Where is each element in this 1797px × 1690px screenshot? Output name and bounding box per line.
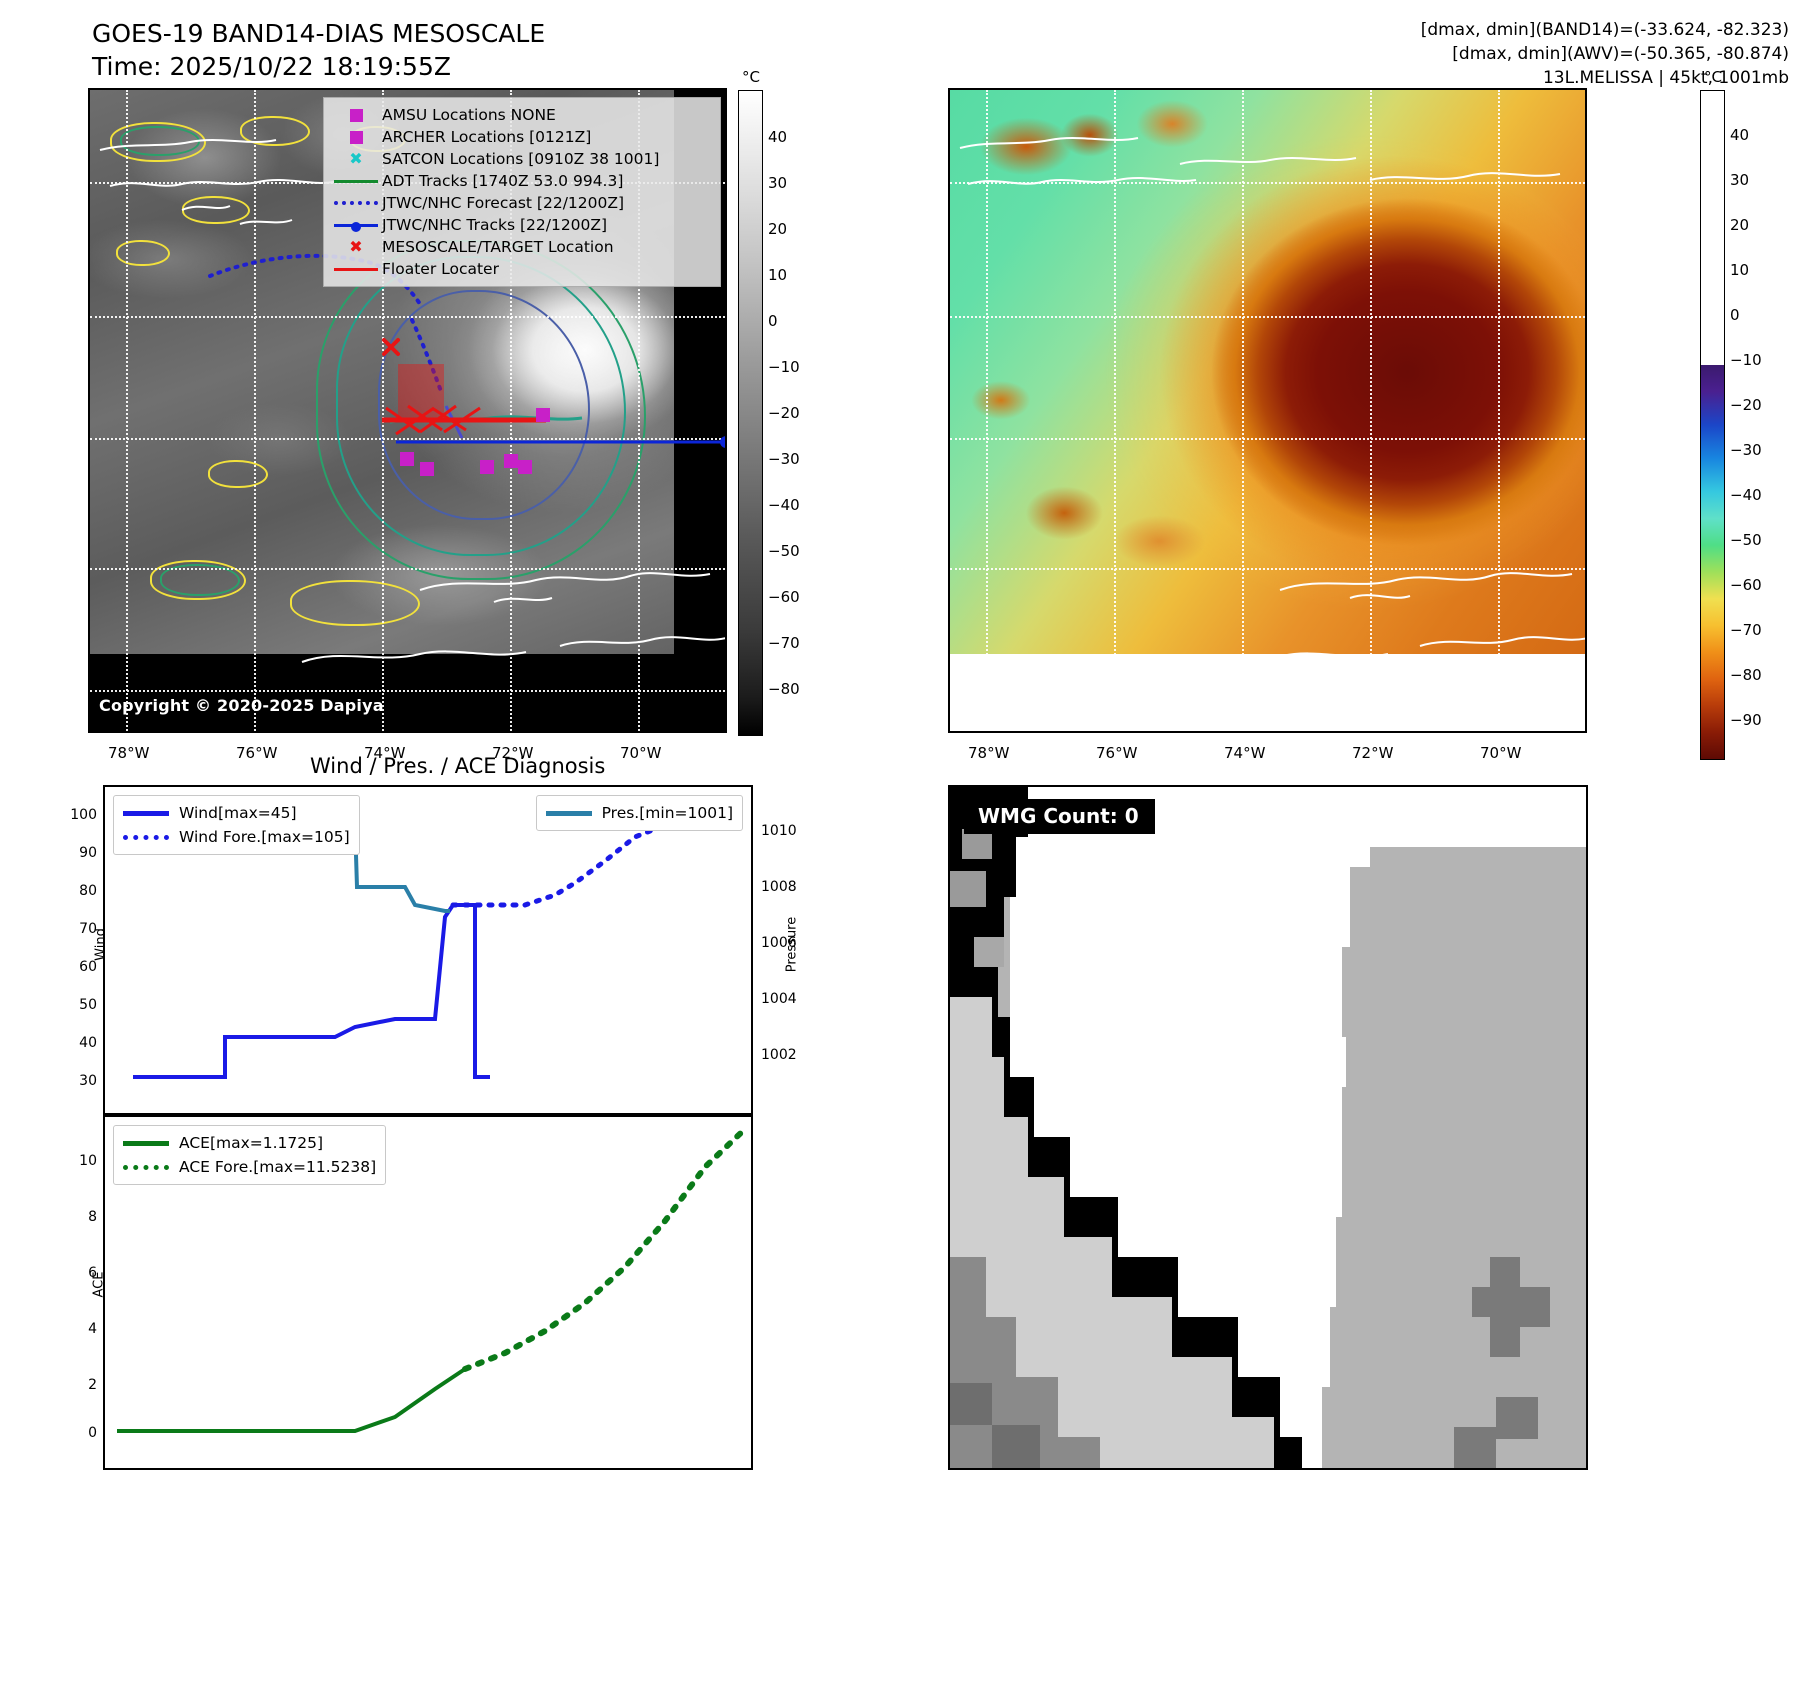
ace-ytick: 10 <box>61 1153 97 1169</box>
legend-item-floater-locater[interactable]: Floater Locater <box>330 258 712 280</box>
awv-cb-tick: −30 <box>1730 441 1762 459</box>
awv-cb-tick: 0 <box>1730 306 1740 324</box>
legend-label: Floater Locater <box>382 260 499 278</box>
legend-label: Pres.[min=1001] <box>602 804 733 822</box>
ir-cb-tick: −50 <box>768 542 800 560</box>
ace-ytick: 0 <box>61 1425 97 1441</box>
ir-legend[interactable]: AMSU Locations NONE ARCHER Locations [01… <box>323 97 721 287</box>
pressure-ytick: 1010 <box>761 823 811 839</box>
title-line: GOES-19 BAND14-DIAS MESOSCALE <box>92 18 545 51</box>
awv-cb-tick: −80 <box>1730 666 1762 684</box>
awv-coastlines <box>950 90 1585 731</box>
ir-lon-label-78W: 78°W <box>108 744 149 762</box>
ir-cb-tick: −60 <box>768 588 800 606</box>
legend-label: MESOSCALE/TARGET Location <box>382 238 614 256</box>
wind-ytick: 60 <box>61 959 97 975</box>
legend-label: SATCON Locations [0910Z 38 1001] <box>382 150 659 168</box>
ace-solid-line <box>117 1369 465 1431</box>
legend-item-jtwc-tracks[interactable]: JTWC/NHC Tracks [22/1200Z] <box>330 214 712 236</box>
diagnosis-title: Wind / Pres. / ACE Diagnosis <box>310 754 605 778</box>
pressure-ytick: 1008 <box>761 879 811 895</box>
wind-legend[interactable]: Wind[max=45] Wind Fore.[max=105] <box>113 795 360 855</box>
pressure-legend[interactable]: Pres.[min=1001] <box>536 795 743 831</box>
legend-item-amsu[interactable]: AMSU Locations NONE <box>330 104 712 126</box>
ace-chart[interactable]: ACE 10 8 6 4 2 0 ACE[max=1.1725] ACE For… <box>103 1115 753 1470</box>
legend-item-archer[interactable]: ARCHER Locations [0121Z] <box>330 126 712 148</box>
wmg-panel[interactable]: WMG Count: 0 <box>948 785 1588 1470</box>
awv-cb-tick: −20 <box>1730 396 1762 414</box>
wind-ytick: 30 <box>61 1073 97 1089</box>
awv-cb-tick: 40 <box>1730 126 1749 144</box>
awv-colorbar: °C 40 30 20 10 0 −10 −20 −30 −40 −50 −60… <box>1700 68 1790 748</box>
ir-cb-tick: −80 <box>768 680 800 698</box>
dmax-band14-line: [dmax, dmin](BAND14)=(-33.624, -82.323) <box>1421 18 1789 42</box>
ir-image: 18°N 16°N 14°N 12°N 10°N AMSU Locations … <box>90 90 725 731</box>
legend-label: ACE Fore.[max=11.5238] <box>179 1158 376 1176</box>
ir-cb-tick: −70 <box>768 634 800 652</box>
ir-colorbar-unit: °C <box>742 68 760 86</box>
ace-ytick: 8 <box>61 1209 97 1225</box>
solid-line-icon <box>123 1141 179 1146</box>
pressure-ytick: 1002 <box>761 1047 811 1063</box>
wind-ytick: 50 <box>61 997 97 1013</box>
ir-cb-tick: −30 <box>768 450 800 468</box>
dotted-line-icon <box>123 1165 179 1170</box>
awv-cb-tick: 10 <box>1730 261 1749 279</box>
ace-y-axis-label: ACE <box>92 1245 107 1325</box>
awv-cb-tick: 20 <box>1730 216 1749 234</box>
awv-lon-label-76W: 76°W <box>1096 744 1137 762</box>
legend-item-wind[interactable]: Wind[max=45] <box>123 801 350 825</box>
awv-cb-tick: −90 <box>1730 711 1762 729</box>
legend-item-ace[interactable]: ACE[max=1.1725] <box>123 1131 376 1155</box>
wind-ytick: 100 <box>61 807 97 823</box>
solid-line-icon <box>330 268 382 271</box>
ir-cb-tick: 30 <box>768 174 787 192</box>
ir-colorbar: °C 40 30 20 10 0 −10 −20 −30 −40 −50 −60… <box>738 68 798 748</box>
wind-ytick: 70 <box>61 921 97 937</box>
awv-lon-label-70W: 70°W <box>1480 744 1521 762</box>
awv-lon-label-74W: 74°W <box>1224 744 1265 762</box>
legend-label: ARCHER Locations [0121Z] <box>382 128 591 146</box>
awv-lon-label-72W: 72°W <box>1352 744 1393 762</box>
square-marker-icon <box>330 109 382 122</box>
dotted-line-icon <box>330 201 382 205</box>
awv-satellite-panel[interactable]: 18°N 16°N 14°N 12°N 10°N <box>948 88 1587 733</box>
wmg-map <box>950 787 1586 1468</box>
line-with-point-icon <box>330 224 382 227</box>
solid-line-icon <box>546 811 602 816</box>
legend-label: ACE[max=1.1725] <box>179 1134 323 1152</box>
copyright-notice: Copyright © 2020-2025 Dapiya <box>99 696 384 715</box>
solid-line-icon <box>123 811 179 816</box>
x-marker-icon: ✖ <box>330 239 382 255</box>
ir-lon-label-76W: 76°W <box>236 744 277 762</box>
x-marker-icon: ✖ <box>330 151 382 167</box>
awv-cb-tick: −10 <box>1730 351 1762 369</box>
ir-satellite-panel[interactable]: 18°N 16°N 14°N 12°N 10°N AMSU Locations … <box>88 88 727 733</box>
ir-cb-tick: −10 <box>768 358 800 376</box>
wind-pressure-chart[interactable]: Wind Pressure 100 90 80 70 60 50 40 30 1… <box>103 785 753 1115</box>
legend-item-adt-tracks[interactable]: ADT Tracks [1740Z 53.0 994.3] <box>330 170 712 192</box>
page-title: GOES-19 BAND14-DIAS MESOSCALE Time: 2025… <box>92 18 545 83</box>
legend-item-wind-forecast[interactable]: Wind Fore.[max=105] <box>123 825 350 849</box>
legend-label: Wind[max=45] <box>179 804 297 822</box>
ace-ytick: 6 <box>61 1265 97 1281</box>
legend-label: ADT Tracks [1740Z 53.0 994.3] <box>382 172 623 190</box>
pressure-ytick: 1004 <box>761 991 811 1007</box>
legend-item-satcon[interactable]: ✖ SATCON Locations [0910Z 38 1001] <box>330 148 712 170</box>
pressure-ytick: 1006 <box>761 935 811 951</box>
awv-cb-tick: 30 <box>1730 171 1749 189</box>
awv-image: 18°N 16°N 14°N 12°N 10°N <box>950 90 1585 731</box>
wind-solid-line <box>133 905 490 1077</box>
dmax-awv-line: [dmax, dmin](AWV)=(-50.365, -80.874) <box>1421 42 1789 66</box>
wind-ytick: 80 <box>61 883 97 899</box>
ace-ytick: 2 <box>61 1377 97 1393</box>
ir-cb-tick: 40 <box>768 128 787 146</box>
ace-ytick: 4 <box>61 1321 97 1337</box>
awv-lon-label-78W: 78°W <box>968 744 1009 762</box>
dotted-line-icon <box>123 835 179 840</box>
legend-label: AMSU Locations NONE <box>382 106 556 124</box>
legend-label: Wind Fore.[max=105] <box>179 828 350 846</box>
wmg-raster <box>950 787 1586 1468</box>
wind-ytick: 90 <box>61 845 97 861</box>
ir-cb-tick: 20 <box>768 220 787 238</box>
ir-cb-tick: −40 <box>768 496 800 514</box>
awv-cb-tick: −70 <box>1730 621 1762 639</box>
legend-item-ace-forecast[interactable]: ACE Fore.[max=11.5238] <box>123 1155 376 1179</box>
ir-cb-tick: −20 <box>768 404 800 422</box>
time-line: Time: 2025/10/22 18:19:55Z <box>92 51 545 84</box>
awv-colorbar-gradient <box>1700 90 1725 760</box>
wind-ytick: 40 <box>61 1035 97 1051</box>
ir-colorbar-gradient <box>738 90 763 736</box>
ir-cb-tick: 0 <box>768 312 778 330</box>
awv-cb-tick: −50 <box>1730 531 1762 549</box>
solid-line-icon <box>330 180 382 183</box>
legend-item-mesoscale-target[interactable]: ✖ MESOSCALE/TARGET Location <box>330 236 712 258</box>
legend-label: JTWC/NHC Tracks [22/1200Z] <box>382 216 607 234</box>
wmg-count-badge: WMG Count: 0 <box>964 799 1155 834</box>
awv-cb-tick: −60 <box>1730 576 1762 594</box>
awv-cb-tick: −40 <box>1730 486 1762 504</box>
legend-item-jtwc-forecast[interactable]: JTWC/NHC Forecast [22/1200Z] <box>330 192 712 214</box>
ace-forecast-dotted-line <box>465 1129 745 1369</box>
legend-item-pressure[interactable]: Pres.[min=1001] <box>546 801 733 825</box>
ir-lon-label-70W: 70°W <box>620 744 661 762</box>
awv-colorbar-unit: °C <box>1704 68 1722 86</box>
ace-legend[interactable]: ACE[max=1.1725] ACE Fore.[max=11.5238] <box>113 1125 386 1185</box>
legend-label: JTWC/NHC Forecast [22/1200Z] <box>382 194 624 212</box>
ir-cb-tick: 10 <box>768 266 787 284</box>
square-marker-icon <box>330 131 382 144</box>
